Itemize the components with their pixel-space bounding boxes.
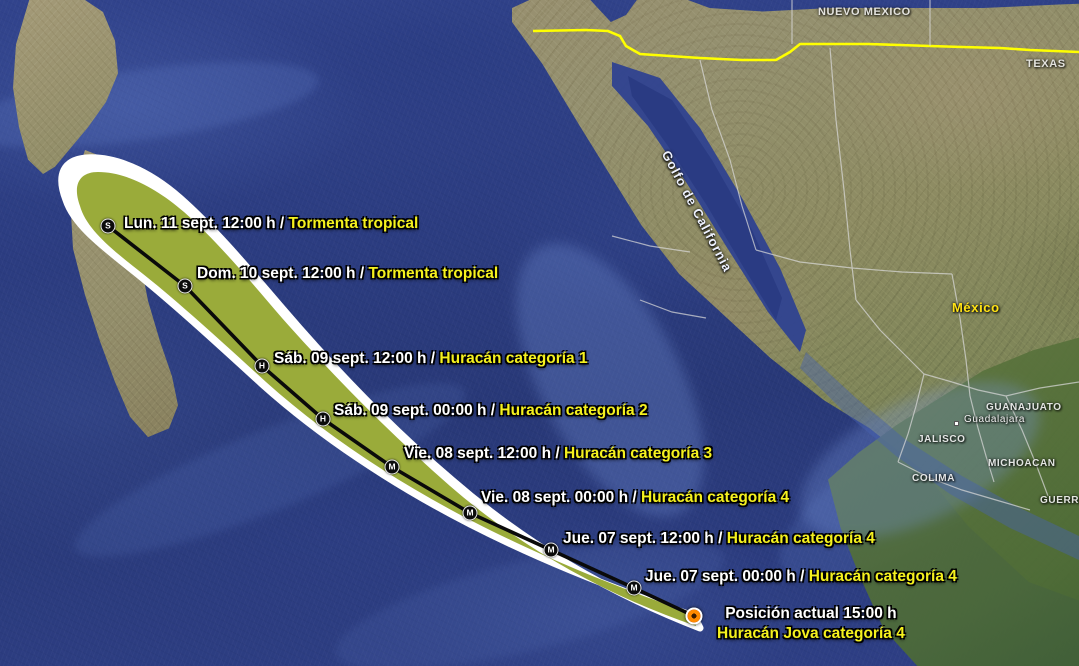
track-label-vie08-00: Vie. 08 sept. 00:00 h / Huracán categorí… (481, 489, 789, 507)
track-label-separator: / (714, 530, 727, 547)
track-point-sab09-00[interactable]: H (316, 412, 331, 427)
track-label-dom10-12: Dom. 10 sept. 12:00 h / Tormenta tropica… (197, 265, 498, 283)
place-label-guadalajara: Guadalajara (964, 414, 1025, 425)
hurricane-forecast-map: NUEVO MEXICO TEXAS Golfo de California M… (0, 0, 1079, 666)
track-label-category: Huracán categoría 4 (641, 489, 789, 506)
track-point-sab09-12[interactable]: H (255, 359, 270, 374)
marker-symbol-major-hurricane: M (630, 584, 637, 593)
track-label-vie08-12: Vie. 08 sept. 12:00 h / Huracán categorí… (404, 445, 712, 463)
marker-symbol-major-hurricane: M (466, 509, 473, 518)
track-label-jue07-12: Jue. 07 sept. 12:00 h / Huracán categorí… (563, 530, 875, 548)
track-label-separator: / (628, 489, 641, 506)
place-label-jalisco: JALISCO (918, 434, 966, 445)
track-label-separator: / (551, 445, 564, 462)
track-point-dom10-12[interactable]: S (178, 279, 193, 294)
track-label-category: Huracán categoría 1 (439, 350, 587, 367)
track-label-datetime: Vie. 08 sept. 12:00 h (404, 445, 551, 462)
track-label-category: Tormenta tropical (368, 265, 498, 282)
place-label-guerrero: GUERR. (1040, 495, 1079, 506)
place-label-mexico: México (952, 300, 1000, 315)
track-label-datetime: Jue. 07 sept. 00:00 h (645, 568, 796, 585)
track-label-separator: / (796, 568, 809, 585)
place-label-texas: TEXAS (1026, 58, 1066, 70)
current-position-time: Posición actual 15:00 h (725, 605, 896, 622)
marker-symbol-storm: S (105, 222, 111, 231)
track-label-separator: / (487, 402, 500, 419)
track-label-separator: / (276, 215, 289, 232)
track-point-vie08-12[interactable]: M (385, 460, 400, 475)
place-label-nuevo-mexico: NUEVO MEXICO (818, 6, 911, 18)
track-label-jue07-00: Jue. 07 sept. 00:00 h / Huracán categorí… (645, 568, 957, 586)
track-point-jue07-12[interactable]: M (544, 543, 559, 558)
track-label-category: Huracán categoría 4 (727, 530, 875, 547)
track-label-datetime: Sáb. 09 sept. 00:00 h (334, 402, 487, 419)
track-label-separator: / (427, 350, 440, 367)
track-label-lun11-12: Lun. 11 sept. 12:00 h / Tormenta tropica… (124, 215, 418, 233)
track-label-datetime: Dom. 10 sept. 12:00 h (197, 265, 356, 282)
track-label-datetime: Sáb. 09 sept. 12:00 h (274, 350, 427, 367)
current-position-marker[interactable] (686, 608, 703, 625)
place-label-colima: COLIMA (912, 473, 955, 484)
marker-symbol-hurricane: H (320, 415, 326, 424)
marker-symbol-storm: S (182, 282, 188, 291)
track-label-datetime: Jue. 07 sept. 12:00 h (563, 530, 714, 547)
current-position-label: Posición actual 15:00 h Huracán Jova cat… (717, 604, 905, 645)
track-label-category: Huracán categoría 2 (499, 402, 647, 419)
marker-symbol-major-hurricane: M (547, 546, 554, 555)
place-label-guanajuato: GUANAJUATO (986, 402, 1062, 413)
track-label-sab09-00: Sáb. 09 sept. 00:00 h / Huracán categorí… (334, 402, 648, 420)
marker-symbol-hurricane: H (259, 362, 265, 371)
track-label-datetime: Vie. 08 sept. 00:00 h (481, 489, 628, 506)
marker-symbol-major-hurricane: M (388, 463, 395, 472)
track-label-sab09-12: Sáb. 09 sept. 12:00 h / Huracán categorí… (274, 350, 588, 368)
track-point-lun11-12[interactable]: S (101, 219, 116, 234)
current-position-storm: Huracán Jova categoría 4 (717, 624, 905, 644)
track-label-category: Huracán categoría 3 (564, 445, 712, 462)
track-label-category: Huracán categoría 4 (809, 568, 957, 585)
track-label-category: Tormenta tropical (289, 215, 419, 232)
track-label-datetime: Lun. 11 sept. 12:00 h (124, 215, 276, 232)
city-dot-guadalajara (954, 421, 959, 426)
track-point-jue07-00[interactable]: M (627, 581, 642, 596)
track-point-vie08-00[interactable]: M (463, 506, 478, 521)
track-label-separator: / (356, 265, 369, 282)
place-label-michoacan: MICHOACAN (988, 458, 1056, 469)
